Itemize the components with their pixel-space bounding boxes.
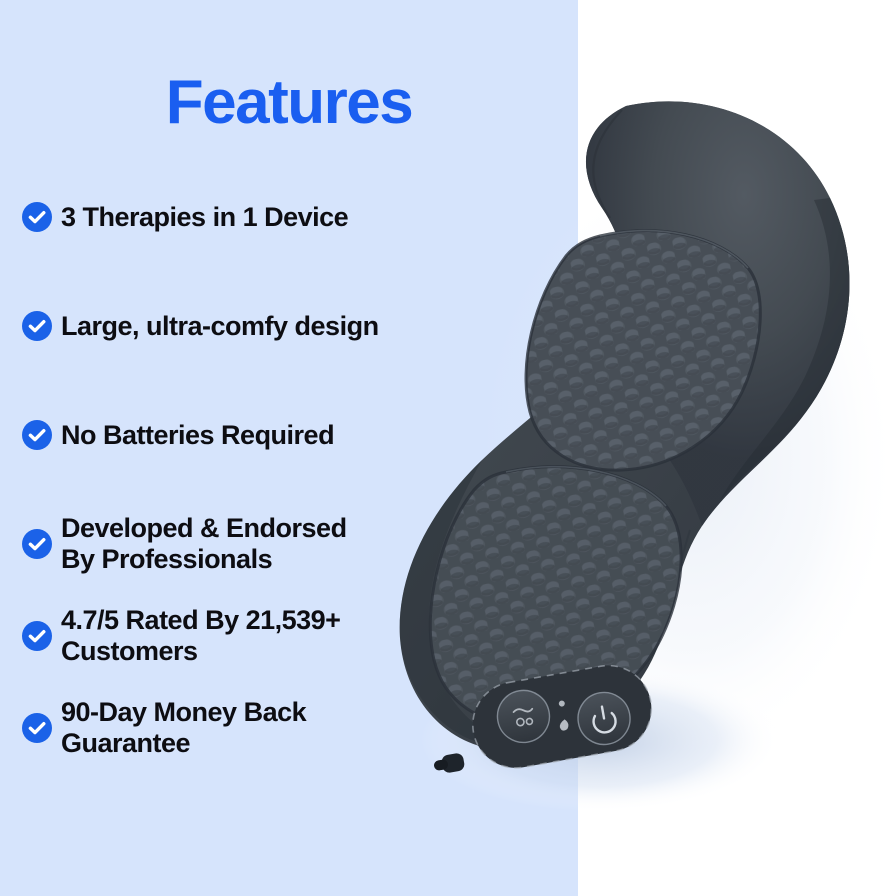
list-item-label: No Batteries Required bbox=[61, 420, 334, 451]
list-item-label: 4.7/5 Rated By 21,539+ Customers bbox=[61, 605, 340, 667]
heating-massage-pad-illustration bbox=[390, 40, 896, 840]
check-circle-icon bbox=[22, 713, 52, 743]
check-circle-icon bbox=[22, 202, 52, 232]
check-circle-icon bbox=[22, 311, 52, 341]
list-item-label: Large, ultra-comfy design bbox=[61, 311, 379, 342]
list-item-label: 3 Therapies in 1 Device bbox=[61, 202, 348, 233]
check-circle-icon bbox=[22, 420, 52, 450]
product-feature-screenshot: Features 3 Therapies in 1 Device Large, … bbox=[0, 0, 896, 896]
product-image bbox=[390, 40, 896, 840]
check-circle-icon bbox=[22, 621, 52, 651]
list-item-label: Developed & Endorsed By Professionals bbox=[61, 513, 347, 575]
check-circle-icon bbox=[22, 529, 52, 559]
list-item-label: 90-Day Money Back Guarantee bbox=[61, 697, 306, 759]
